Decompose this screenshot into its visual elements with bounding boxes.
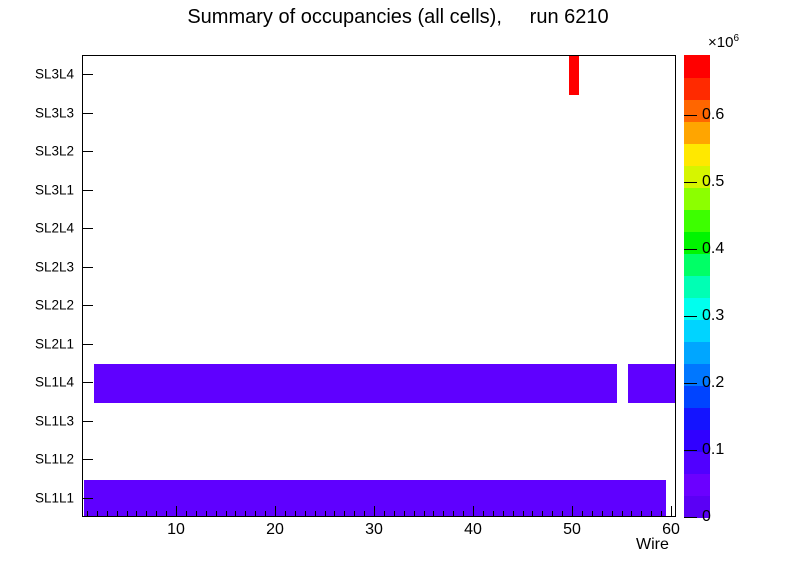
x-axis-minor-tick [562, 511, 563, 517]
x-axis-minor-tick [414, 511, 415, 517]
color-bar-exponent: ×106 [708, 33, 739, 51]
x-axis-minor-tick [334, 511, 335, 517]
x-axis-minor-tick [216, 511, 217, 517]
x-axis-minor-tick [532, 511, 533, 517]
y-axis-label: SL3L4 [0, 67, 74, 82]
x-axis-minor-tick [612, 511, 613, 517]
x-axis-minor-tick [87, 511, 88, 517]
y-axis-tick [82, 267, 93, 268]
x-axis-minor-tick [384, 511, 385, 517]
x-axis-minor-tick [404, 511, 405, 517]
heatmap-cell [628, 364, 675, 403]
x-axis-minor-tick [226, 511, 227, 517]
x-axis-tick-label: 30 [365, 521, 383, 539]
color-bar-tick-label: 0.1 [702, 441, 724, 459]
color-bar-tick [684, 450, 697, 451]
color-bar-tick [684, 517, 697, 518]
y-axis-tick [82, 305, 93, 306]
x-axis-minor-tick [245, 511, 246, 517]
x-axis-minor-tick [166, 511, 167, 517]
x-axis-major-tick [671, 506, 672, 517]
x-axis-minor-tick [513, 511, 514, 517]
x-axis-minor-tick [463, 511, 464, 517]
x-axis-minor-tick [354, 511, 355, 517]
y-axis-label: SL2L2 [0, 298, 74, 313]
x-axis-tick-label: 50 [563, 521, 581, 539]
color-bar-exponent-power: 6 [733, 33, 739, 44]
x-axis-minor-tick [641, 511, 642, 517]
color-bar-band [684, 407, 710, 430]
x-axis-minor-tick [146, 511, 147, 517]
x-axis-minor-tick [156, 511, 157, 517]
x-axis-minor-tick [127, 511, 128, 517]
color-bar-tick [684, 383, 697, 384]
page-title: Summary of occupancies (all cells), run … [0, 6, 796, 29]
x-axis-minor-tick [661, 511, 662, 517]
x-axis-tick-label: 20 [266, 521, 284, 539]
plot-area [83, 56, 675, 516]
y-axis-label: SL1L2 [0, 452, 74, 467]
root-canvas: Summary of occupancies (all cells), run … [0, 0, 796, 572]
color-bar-tick [684, 316, 697, 317]
x-axis-minor-tick [364, 511, 365, 517]
x-axis-minor-tick [136, 511, 137, 517]
color-bar-tick-label: 0.3 [702, 307, 724, 325]
color-bar-tick [684, 249, 697, 250]
y-axis-tick [82, 151, 93, 152]
x-axis-minor-tick [582, 511, 583, 517]
y-axis-label: SL2L1 [0, 336, 74, 351]
y-axis-label: SL3L2 [0, 144, 74, 159]
x-axis-minor-tick [285, 511, 286, 517]
x-axis-minor-tick [186, 511, 187, 517]
x-axis-minor-tick [651, 511, 652, 517]
x-axis-minor-tick [592, 511, 593, 517]
x-axis-minor-tick [235, 511, 236, 517]
y-axis-label: SL1L1 [0, 490, 74, 505]
y-axis-tick [82, 498, 93, 499]
x-axis-minor-tick [523, 511, 524, 517]
x-axis-minor-tick [344, 511, 345, 517]
plot-frame [82, 55, 676, 517]
x-axis-minor-tick [483, 511, 484, 517]
x-axis-minor-tick [503, 511, 504, 517]
x-axis-minor-tick [97, 511, 98, 517]
y-axis-tick [82, 344, 93, 345]
x-axis-major-tick [374, 506, 375, 517]
color-bar-band [684, 143, 710, 166]
y-axis-tick [82, 459, 93, 460]
color-bar-tick [684, 115, 697, 116]
x-axis-minor-tick [305, 511, 306, 517]
x-axis-minor-tick [552, 511, 553, 517]
x-axis-minor-tick [295, 511, 296, 517]
color-bar-band [684, 275, 710, 298]
y-axis-tick [82, 228, 93, 229]
y-axis-tick [82, 421, 93, 422]
x-axis-major-tick [572, 506, 573, 517]
color-bar-band [684, 55, 710, 78]
x-axis-minor-tick [196, 511, 197, 517]
x-axis-minor-tick [265, 511, 266, 517]
color-bar-band [684, 341, 710, 364]
x-axis-major-tick [473, 506, 474, 517]
x-axis-minor-tick [602, 511, 603, 517]
color-bar-band [684, 209, 710, 232]
x-axis-title: Wire [636, 536, 669, 554]
y-axis-label: SL3L3 [0, 105, 74, 120]
color-bar-band [684, 121, 710, 144]
heatmap-cell [94, 364, 617, 403]
color-bar-band [684, 77, 710, 100]
y-axis-label: SL1L4 [0, 375, 74, 390]
heatmap-cell [569, 56, 579, 95]
x-axis-minor-tick [394, 511, 395, 517]
color-bar-exponent-base: ×10 [708, 34, 733, 51]
color-bar-tick-label: 0 [702, 508, 711, 526]
color-bar-tick-label: 0.2 [702, 374, 724, 392]
x-axis-minor-tick [443, 511, 444, 517]
x-axis-minor-tick [206, 511, 207, 517]
x-axis-minor-tick [622, 511, 623, 517]
x-axis-minor-tick [117, 511, 118, 517]
color-bar-band [684, 473, 710, 496]
y-axis-label: SL2L3 [0, 259, 74, 274]
y-axis-tick [82, 74, 93, 75]
x-axis-minor-tick [315, 511, 316, 517]
color-bar-tick-label: 0.5 [702, 173, 724, 191]
x-axis-tick-label: 10 [167, 521, 185, 539]
x-axis-tick-label: 40 [464, 521, 482, 539]
y-axis-tick [82, 113, 93, 114]
y-axis-label: SL2L4 [0, 221, 74, 236]
x-axis-minor-tick [424, 511, 425, 517]
x-axis-minor-tick [542, 511, 543, 517]
x-axis-minor-tick [107, 511, 108, 517]
y-axis-label: SL1L3 [0, 413, 74, 428]
y-axis-tick [82, 382, 93, 383]
color-bar-tick-label: 0.6 [702, 106, 724, 124]
x-axis-minor-tick [325, 511, 326, 517]
color-bar-tick-label: 0.4 [702, 240, 724, 258]
x-axis-minor-tick [255, 511, 256, 517]
x-axis-minor-tick [493, 511, 494, 517]
x-axis-major-tick [275, 506, 276, 517]
color-bar-tick [684, 182, 697, 183]
y-axis-tick [82, 190, 93, 191]
x-axis-minor-tick [631, 511, 632, 517]
y-axis-label: SL3L1 [0, 182, 74, 197]
x-axis-major-tick [176, 506, 177, 517]
x-axis-minor-tick [453, 511, 454, 517]
x-axis-minor-tick [433, 511, 434, 517]
